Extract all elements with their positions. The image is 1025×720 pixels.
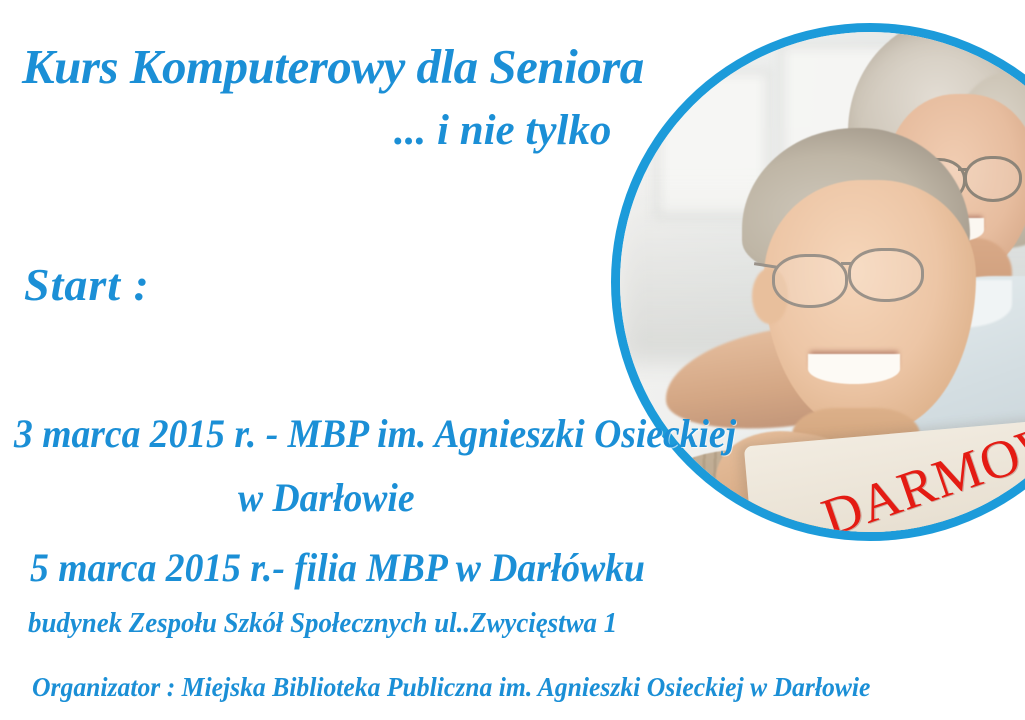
place-line-1: w Darłowie (238, 474, 415, 521)
venue-line: budynek Zespołu Szkół Społecznych ul..Zw… (28, 608, 617, 640)
organizer-line: Organizator : Miejska Biblioteka Publicz… (32, 672, 870, 703)
poster-headline: Kurs Komputerowy dla Seniora (22, 38, 644, 95)
poster-subheadline: ... i nie tylko (394, 106, 611, 155)
date-line-2: 5 marca 2015 r.- filia MBP w Darłówku (30, 544, 645, 591)
start-label: Start : (24, 258, 150, 311)
poster-canvas: DARMOWY Kurs Komputerowy dla Seniora ...… (0, 0, 1025, 720)
poster-text-layer: Kurs Komputerowy dla Seniora ... i nie t… (0, 0, 1025, 720)
date-line-1: 3 marca 2015 r. - MBP im. Agnieszki Osie… (14, 410, 736, 457)
